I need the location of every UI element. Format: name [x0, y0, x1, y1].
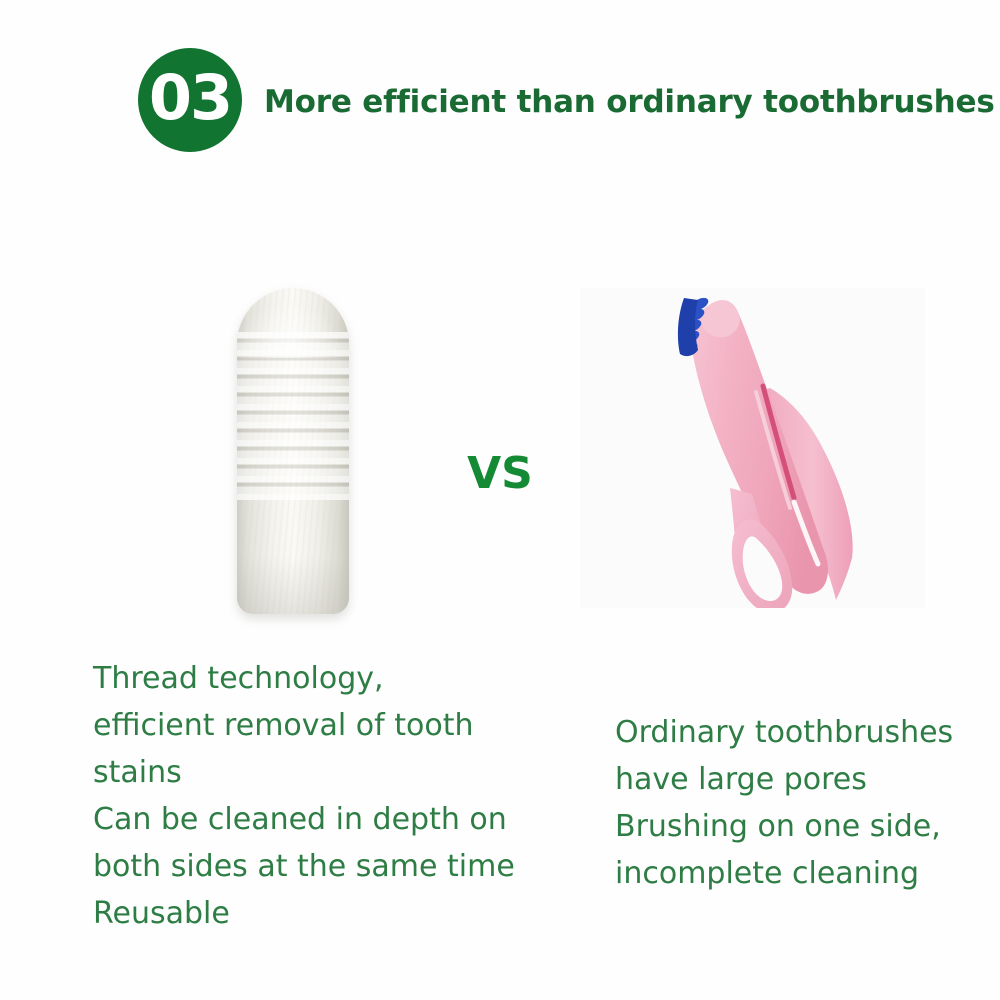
step-number-badge: 03: [138, 48, 242, 152]
caption-line: both sides at the same time: [93, 843, 515, 890]
caption-line: Thread technology,: [93, 655, 515, 702]
ordinary-pink-toothbrush-icon: [580, 288, 925, 608]
caption-line: have large pores: [615, 756, 953, 803]
section-header: 03 More efficient than ordinary toothbru…: [138, 45, 918, 155]
thread-finger-toothbrush-icon: [237, 288, 349, 614]
page-title: More efficient than ordinary toothbrushe…: [264, 84, 995, 120]
caption-line: Can be cleaned in depth on: [93, 796, 515, 843]
right-product-image: [580, 288, 925, 608]
caption-line: efficient removal of tooth: [93, 702, 515, 749]
infographic-page: 03 More efficient than ordinary toothbru…: [0, 0, 1000, 1000]
vs-divider-label: VS: [440, 448, 560, 499]
comparison-row: VS: [0, 280, 1000, 620]
caption-line: Brushing on one side,: [615, 803, 953, 850]
sleeve-top-highlight: [237, 288, 349, 358]
step-number-label: 03: [149, 67, 231, 129]
sleeve-bottom-shadow: [237, 556, 349, 614]
caption-line: stains: [93, 749, 515, 796]
caption-line: incomplete cleaning: [615, 850, 953, 897]
left-product-image: [230, 280, 356, 620]
caption-line: Ordinary toothbrushes: [615, 709, 953, 756]
right-product-caption: Ordinary toothbrushes have large pores B…: [615, 709, 953, 897]
caption-line: Reusable: [93, 890, 515, 937]
left-product-caption: Thread technology, efficient removal of …: [93, 655, 515, 937]
